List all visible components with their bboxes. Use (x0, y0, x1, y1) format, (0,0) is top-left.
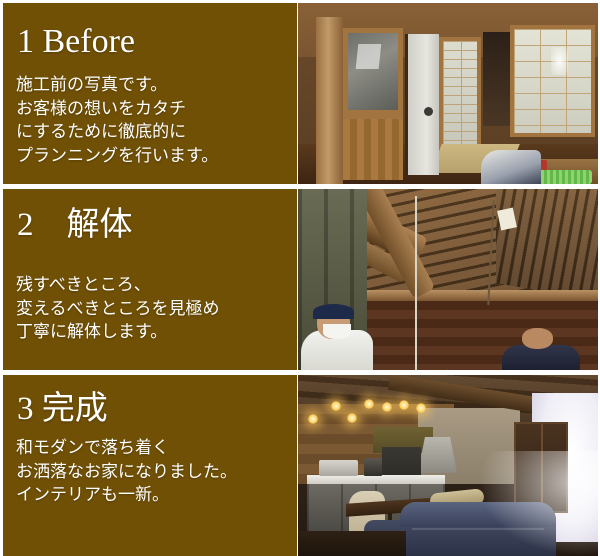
dark-floor (298, 531, 406, 556)
photo-scene-demolition (298, 189, 598, 370)
hanging-wire-white (415, 196, 417, 370)
light-bulb (331, 401, 341, 411)
step-heading-before: 1 Before (17, 25, 135, 59)
step-body-line: インテリアも一新。 (16, 483, 237, 507)
step-text-panel-demolition: 2 解体 残すべきところ、 変えるべきところを見極め 丁寧に解体します。 (3, 189, 297, 370)
worker-in-dark-jacket (502, 330, 580, 370)
shoji-grid (443, 41, 477, 145)
step-body-line: プランニングを行います。 (16, 144, 218, 168)
step-body-line: 残すべきところ、 (16, 273, 220, 297)
step-body-before: 施工前の写真です。 お客様の想いをカタチ にするために徹底的に プランニングを行… (16, 73, 218, 167)
step-row-demolition: 2 解体 残すべきところ、 変えるべきところを見極め 丁寧に解体します。 (3, 189, 598, 370)
photo-scene-traditional-room (298, 3, 598, 184)
worker-cap (313, 304, 355, 320)
step-body-line: お洒落なお家になりました。 (16, 460, 237, 484)
worker-with-mask (301, 305, 373, 370)
light-bulb (382, 402, 392, 412)
sofa-seam (412, 528, 543, 530)
kettle (364, 458, 382, 476)
sofa-backrest (400, 502, 556, 527)
roof-slope-right (496, 189, 598, 301)
step-body-demolition: 残すべきところ、 変えるべきところを見極め 丁寧に解体します。 (16, 273, 220, 344)
photo-scene-modern-living (298, 375, 598, 556)
shoji-grid (514, 29, 592, 133)
step-text-panel-complete: 3 完成 和モダンで落ち着く お洒落なお家になりました。 インテリアも一新。 (3, 375, 297, 556)
leather-sofa (400, 502, 556, 556)
step-body-line: 和モダンで落ち着く (16, 436, 237, 460)
step-body-line: お客様の想いをカタチ (16, 97, 218, 121)
green-basket (538, 170, 592, 184)
photo-demolition-roof-beams (298, 189, 598, 370)
step-body-line: 施工前の写真です。 (16, 73, 218, 97)
worker-head (522, 328, 553, 349)
light-bulb (347, 413, 357, 423)
photo-after-modern-living (298, 375, 598, 556)
light-bulb (364, 399, 374, 409)
step-body-line: にするために徹底的に (16, 120, 218, 144)
glass-reflection (356, 44, 382, 69)
microwave (319, 460, 358, 476)
photo-before-traditional-room (298, 3, 598, 184)
step-body-line: 丁寧に解体します。 (16, 320, 220, 344)
horizontal-beam (352, 290, 598, 301)
window-glow (551, 47, 568, 74)
folded-cloth-pile (481, 150, 541, 184)
step-row-complete: 3 完成 和モダンで落ち着く お洒落なお家になりました。 インテリアも一新。 (3, 375, 598, 556)
renovation-steps-infographic: 1 Before 施工前の写真です。 お客様の想いをカタチ にするために徹底的に… (0, 0, 600, 553)
shoji-screen-middle (439, 37, 481, 149)
step-body-complete: 和モダンで落ち着く お洒落なお家になりました。 インテリアも一新。 (16, 436, 237, 507)
face-mask (323, 324, 352, 338)
light-bulb (399, 400, 409, 410)
step-heading-complete: 3 完成 (17, 393, 108, 426)
wooden-post (316, 17, 343, 184)
white-sliding-door (405, 34, 440, 175)
light-bulb (416, 403, 426, 413)
glass-door-lower-wood (343, 115, 403, 180)
shoji-screen-right (510, 25, 596, 137)
glass-door-upper (343, 28, 403, 115)
step-body-line: 変えるべきところを見極め (16, 297, 220, 321)
step-heading-demolition: 2 解体 (17, 209, 133, 242)
step-row-before: 1 Before 施工前の写真です。 お客様の想いをカタチ にするために徹底的に… (3, 3, 598, 184)
pendant-string-lights (304, 395, 448, 435)
door-knob (424, 107, 433, 116)
light-bulb (308, 414, 318, 424)
dark-wood-cabinet (514, 422, 568, 513)
dark-doorway (483, 32, 510, 126)
cabinet-divider (541, 424, 543, 511)
step-text-panel-before: 1 Before 施工前の写真です。 お客様の想いをカタチ にするために徹底的に… (3, 3, 297, 184)
